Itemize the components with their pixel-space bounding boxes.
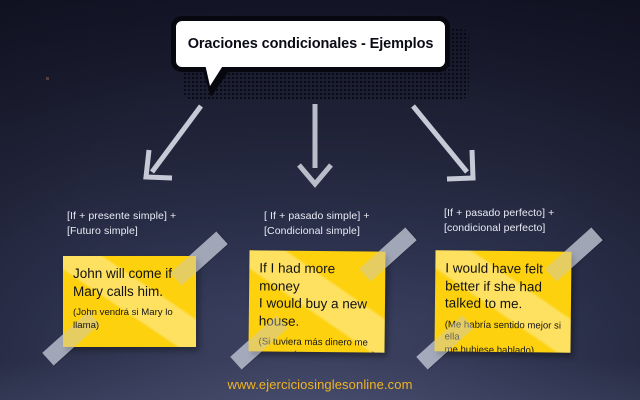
title-speech-bubble: Oraciones condicionales - Ejemplos xyxy=(171,16,461,98)
note-english-text: I would have felt better if she had talk… xyxy=(435,250,572,313)
footer-website-url[interactable]: www.ejerciciosinglesonline.com xyxy=(0,377,640,392)
note-spanish-text: (John vendrá si Mary lo llama) xyxy=(63,300,196,332)
background-speck xyxy=(46,77,49,80)
page-title: Oraciones condicionales - Ejemplos xyxy=(171,16,450,72)
note-english-text: John will come if Mary calls him. xyxy=(63,256,196,300)
column-label-1: [If + presente simple] + [Futuro simple] xyxy=(67,209,227,239)
infographic-canvas: Oraciones condicionales - Ejemplos [If +… xyxy=(0,0,640,400)
